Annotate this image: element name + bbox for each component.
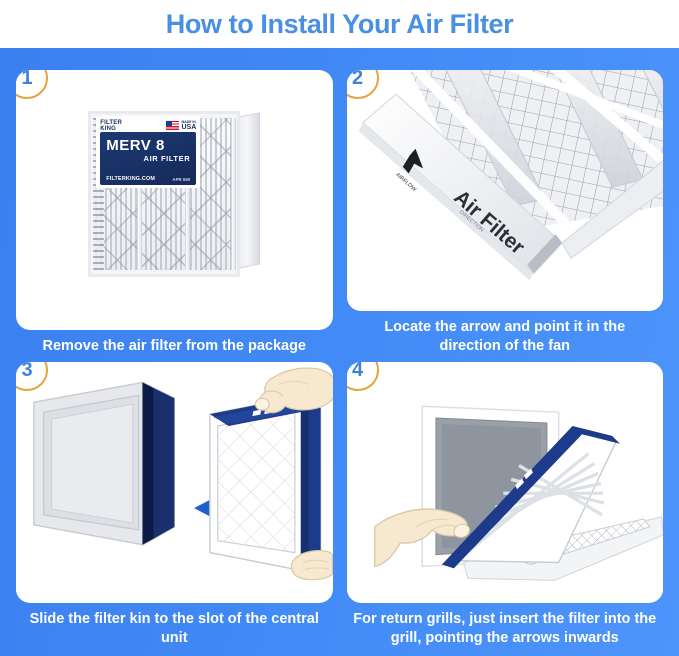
step-3-artwork bbox=[16, 362, 333, 603]
country-text: USA bbox=[181, 124, 196, 131]
step-4-card: 4 bbox=[347, 362, 664, 603]
filter-product-label: FILTER KING MADE IN USA bbox=[96, 116, 200, 188]
header-band: How to Install Your Air Filter bbox=[0, 0, 679, 48]
made-in-usa-mark: MADE IN USA bbox=[166, 121, 196, 131]
step-4-artwork bbox=[347, 362, 664, 603]
step-1: 1 bbox=[16, 70, 333, 356]
label-footer: FILTERKING.COM APR 650 bbox=[106, 176, 190, 182]
merv-rating-block: MERV 8 AIR FILTER bbox=[106, 138, 190, 163]
page-title: How to Install Your Air Filter bbox=[166, 9, 514, 40]
step-4-caption: For return grills, just insert the filte… bbox=[347, 603, 664, 648]
step-1-artwork: FILTER KING MADE IN USA bbox=[16, 70, 333, 330]
step-4: 4 bbox=[347, 362, 664, 648]
filter-rib bbox=[231, 118, 236, 270]
label-brand-row: FILTER KING MADE IN USA bbox=[100, 119, 196, 133]
merv-rating: MERV 8 bbox=[106, 138, 190, 153]
step-3: 3 bbox=[16, 362, 333, 648]
filterking-logo: FILTER KING bbox=[100, 120, 122, 133]
air-filter-text: AIR FILTER bbox=[106, 154, 190, 163]
infographic-root: How to Install Your Air Filter 1 bbox=[0, 0, 679, 656]
step-2: 2 bbox=[347, 70, 664, 356]
step-3-caption: Slide the filter kin to the slot of the … bbox=[16, 603, 333, 648]
air-filter-panel bbox=[210, 396, 321, 570]
step-2-artwork: AIRFLOW Air Filter DIRECTION bbox=[347, 70, 664, 311]
merv8-filter-product: FILTER KING MADE IN USA bbox=[88, 111, 260, 279]
step-1-caption: Remove the air filter from the package bbox=[16, 330, 333, 356]
apr-rating-text: APR 650 bbox=[172, 177, 190, 182]
step-2-caption: Locate the arrow and point it in the dir… bbox=[347, 311, 664, 356]
filter-corner-illustration: AIRFLOW Air Filter DIRECTION bbox=[347, 70, 664, 311]
brand-line-1: FILTER bbox=[100, 120, 122, 126]
steps-grid: 1 bbox=[0, 48, 679, 656]
return-grill-illustration bbox=[347, 362, 664, 603]
step-1-card: 1 bbox=[16, 70, 333, 330]
slide-into-slot-illustration bbox=[16, 362, 333, 603]
usa-flag-icon bbox=[166, 121, 179, 130]
step-3-card: 3 bbox=[16, 362, 333, 603]
central-unit-slot bbox=[34, 382, 174, 544]
label-navy-panel: MERV 8 AIR FILTER FILTERKING.COM APR 650 bbox=[100, 132, 196, 185]
step-2-card: 2 bbox=[347, 70, 664, 311]
usa-text: MADE IN USA bbox=[181, 121, 196, 131]
website-text: FILTERKING.COM bbox=[106, 176, 155, 182]
